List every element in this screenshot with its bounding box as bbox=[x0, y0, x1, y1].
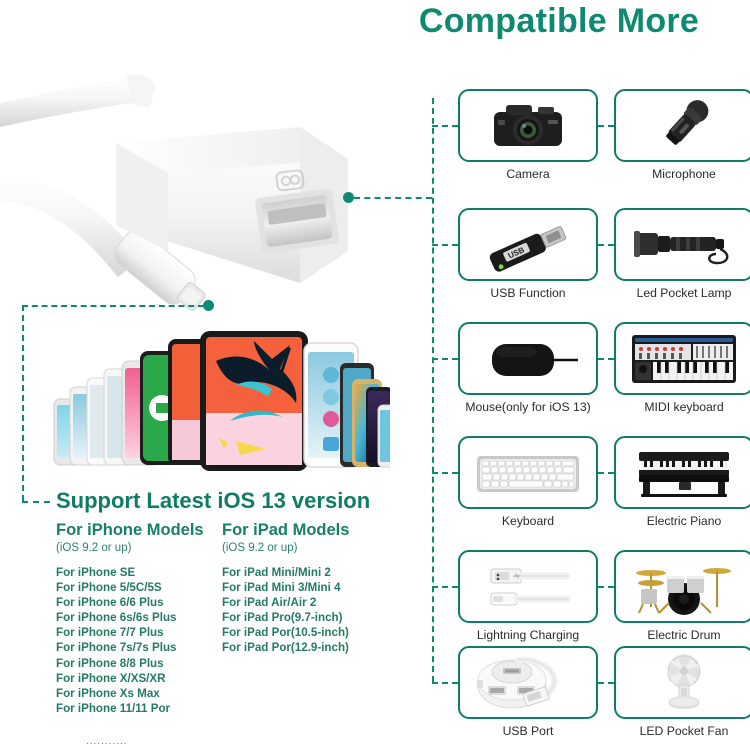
compat-item-midi-keyboard[interactable]: MIDI keyboard bbox=[614, 322, 750, 414]
mouse-icon bbox=[470, 330, 586, 388]
iphone-ipad-device-fan-image bbox=[40, 325, 390, 490]
connector-trunk-vertical bbox=[432, 98, 434, 682]
compat-label: Microphone bbox=[614, 167, 750, 181]
compat-item-mouse[interactable]: Mouse(only for iOS 13) bbox=[458, 322, 598, 414]
compat-card bbox=[458, 89, 598, 162]
ipad-models-list: For iPad Mini/Mini 2 For iPad Mini 3/Min… bbox=[222, 565, 349, 656]
compat-label: LED Pocket Fan bbox=[614, 724, 750, 738]
compat-card: USB bbox=[458, 208, 598, 281]
usb-flash-drive-icon: USB bbox=[470, 216, 586, 274]
connector-dot-usb-end bbox=[343, 192, 354, 203]
lightning-cable-icon bbox=[469, 559, 587, 615]
compat-label: USB Function bbox=[458, 286, 598, 300]
compat-item-usb-port[interactable]: USB Port bbox=[458, 646, 598, 738]
list-item: For iPad Air/Air 2 bbox=[222, 595, 349, 610]
list-item: For iPhone 8/8 Plus bbox=[56, 656, 204, 671]
iphone-models-subtitle: (iOS 9.2 or up) bbox=[56, 540, 204, 556]
compat-card bbox=[614, 436, 750, 509]
drum-kit-icon bbox=[625, 557, 743, 617]
ipad-models-column: For iPad Models (iOS 9.2 or up) For iPad… bbox=[222, 520, 349, 656]
microphone-icon bbox=[628, 96, 740, 156]
ipad-models-title: For iPad Models bbox=[222, 520, 349, 540]
compat-item-electric-piano[interactable]: Electric Piano bbox=[614, 436, 750, 528]
list-item: For iPhone 7s/7s Plus bbox=[56, 640, 204, 655]
compat-label: Camera bbox=[458, 167, 598, 181]
compat-card bbox=[614, 89, 750, 162]
compatibility-grid: Camera Microphone bbox=[455, 70, 750, 750]
list-item: For iPad Pro(9.7-inch) bbox=[222, 610, 349, 625]
handheld-fan-icon bbox=[634, 652, 734, 714]
dslr-camera-icon bbox=[472, 96, 584, 156]
list-item: For iPhone 7/7 Plus bbox=[56, 625, 204, 640]
compat-card bbox=[458, 550, 598, 623]
compat-item-lightning-charging[interactable]: Lightning Charging bbox=[458, 550, 598, 642]
iphone-models-column: For iPhone Models (iOS 9.2 or up) For iP… bbox=[56, 520, 204, 716]
compat-label: Electric Piano bbox=[614, 514, 750, 528]
page-title: Compatible More bbox=[368, 2, 750, 41]
compat-item-electric-drum[interactable]: Electric Drum bbox=[614, 550, 750, 642]
compat-card bbox=[614, 550, 750, 623]
compat-label: USB Port bbox=[458, 724, 598, 738]
compat-label: Lightning Charging bbox=[458, 628, 598, 642]
compat-card bbox=[614, 322, 750, 395]
list-item: For iPhone 6/6 Plus bbox=[56, 595, 204, 610]
ipad-models-subtitle: (iOS 9.2 or up) bbox=[222, 540, 349, 556]
compat-card bbox=[614, 208, 750, 281]
compat-card bbox=[458, 646, 598, 719]
compat-card bbox=[458, 322, 598, 395]
compat-item-microphone[interactable]: Microphone bbox=[614, 89, 750, 181]
list-item: For iPhone 11/11 Por bbox=[56, 701, 204, 716]
compat-item-led-pocket-lamp[interactable]: Led Pocket Lamp bbox=[614, 208, 750, 300]
computer-keyboard-icon bbox=[469, 446, 587, 500]
iphone-models-ellipsis: ........... bbox=[86, 736, 128, 747]
compat-label: Electric Drum bbox=[614, 628, 750, 642]
compat-label: Mouse(only for iOS 13) bbox=[458, 400, 598, 414]
compat-label: Led Pocket Lamp bbox=[614, 286, 750, 300]
list-item: For iPhone Xs Max bbox=[56, 686, 204, 701]
connector-line-usb-to-trunk bbox=[354, 197, 432, 199]
flashlight-icon bbox=[624, 216, 744, 274]
list-item: For iPhone SE bbox=[56, 565, 204, 580]
compat-item-led-pocket-fan[interactable]: LED Pocket Fan bbox=[614, 646, 750, 738]
list-item: For iPhone X/XS/XR bbox=[56, 671, 204, 686]
support-heading: Support Latest iOS 13 version bbox=[56, 488, 370, 514]
list-item: For iPad Por(10.5-inch) bbox=[222, 625, 349, 640]
compat-card bbox=[458, 436, 598, 509]
list-item: For iPad Mini/Mini 2 bbox=[222, 565, 349, 580]
connector-line-devices-top bbox=[22, 305, 204, 307]
compat-item-keyboard[interactable]: Keyboard bbox=[458, 436, 598, 528]
electric-piano-icon bbox=[625, 444, 743, 502]
compat-item-camera[interactable]: Camera bbox=[458, 89, 598, 181]
list-item: For iPhone 5/5C/5S bbox=[56, 580, 204, 595]
midi-keyboard-icon bbox=[624, 329, 744, 389]
compat-item-usb-function[interactable]: USB USB Function bbox=[458, 208, 598, 300]
list-item: For iPad Mini 3/Mini 4 bbox=[222, 580, 349, 595]
connector-line-devices-left bbox=[22, 305, 24, 501]
compat-label: MIDI keyboard bbox=[614, 400, 750, 414]
iphone-models-list: For iPhone SE For iPhone 5/5C/5S For iPh… bbox=[56, 565, 204, 716]
compat-card bbox=[614, 646, 750, 719]
usb-hub-icon bbox=[468, 652, 588, 714]
list-item: For iPad Por(12.9-inch) bbox=[222, 640, 349, 655]
list-item: For iPhone 6s/6s Plus bbox=[56, 610, 204, 625]
lightning-usb-adapter-image bbox=[0, 55, 400, 315]
iphone-models-title: For iPhone Models bbox=[56, 520, 204, 540]
compat-label: Keyboard bbox=[458, 514, 598, 528]
connector-dot-lightning-end bbox=[203, 300, 214, 311]
connector-line-devices-bottom bbox=[22, 501, 50, 503]
